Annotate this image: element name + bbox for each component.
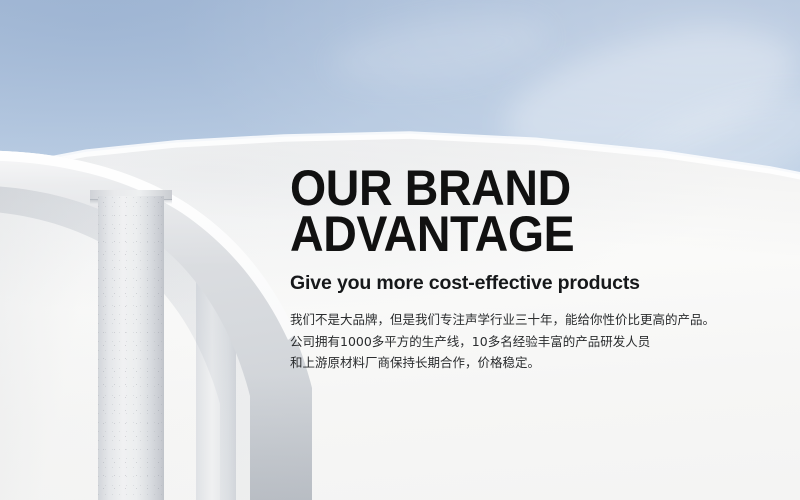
banner-text-block: OUR BRAND ADVANTAGE Give you more cost-e…: [290, 165, 770, 374]
subheadline: Give you more cost-effective products: [290, 271, 770, 295]
body-line-3: 和上游原材料厂商保持长期合作，价格稳定。: [290, 352, 770, 374]
headline-line-2: ADVANTAGE: [290, 211, 736, 257]
body-copy: 我们不是大品牌，但是我们专注声学行业三十年，能给你性价比更高的产品。 公司拥有1…: [290, 309, 770, 374]
headline-line-1: OUR BRAND: [290, 165, 736, 211]
brand-advantage-banner: OUR BRAND ADVANTAGE Give you more cost-e…: [0, 0, 800, 500]
column-concrete-texture: [98, 196, 164, 500]
body-line-2: 公司拥有1000多平方的生产线，10多名经验丰富的产品研发人员: [290, 331, 770, 353]
body-line-1: 我们不是大品牌，但是我们专注声学行业三十年，能给你性价比更高的产品。: [290, 309, 770, 331]
page-title: OUR BRAND ADVANTAGE: [290, 165, 736, 257]
